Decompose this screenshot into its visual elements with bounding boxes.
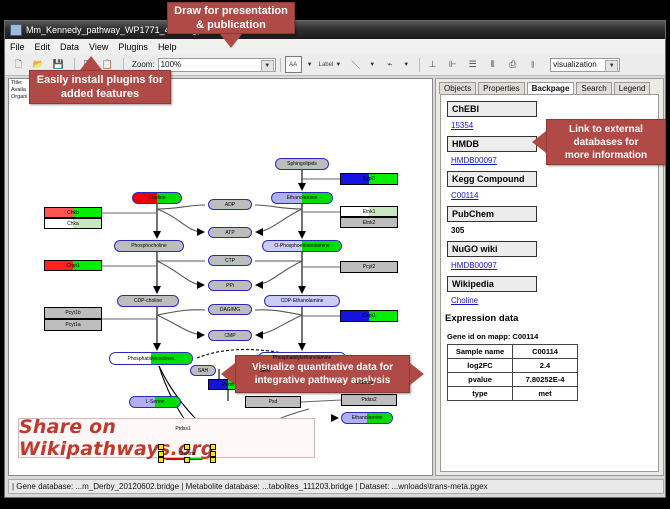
chevron-down-icon[interactable]: ▼ xyxy=(335,62,341,68)
status-bar-text: | Gene database: ...m_Derby_20120602.bri… xyxy=(12,482,488,491)
expr-value-cell: met xyxy=(513,387,578,401)
table-row: typemet xyxy=(448,387,578,401)
node-label: Choline xyxy=(149,195,166,201)
gene-node-chka[interactable]: Chka xyxy=(44,218,102,229)
visualization-combo[interactable]: visualization ▼ xyxy=(550,58,620,72)
selection-handle[interactable] xyxy=(158,457,164,463)
arrow-shape-icon[interactable]: ⌁ xyxy=(381,56,398,73)
menu-item-file[interactable]: File xyxy=(5,42,30,52)
node-label: CDP-choline xyxy=(134,298,162,304)
share-text: Share on Wikipathways.org xyxy=(19,416,314,460)
node-label: L-Serine xyxy=(146,399,165,405)
expr-key-cell: Sample name xyxy=(448,345,513,359)
callout-draw-line1: Draw for presentation xyxy=(174,4,288,18)
db-link-wikipedia[interactable]: Choline xyxy=(451,296,658,305)
menu-item-view[interactable]: View xyxy=(84,42,113,52)
chevron-down-icon[interactable]: ▼ xyxy=(261,60,274,72)
expr-value-cell: 2.4 xyxy=(513,359,578,373)
node-label: SAH xyxy=(198,368,208,374)
meta-organism-label: Organi xyxy=(11,94,28,101)
node-label: Ethanolamine xyxy=(287,195,318,201)
text-icon[interactable]: AA xyxy=(285,56,302,73)
text-tool-dropdown[interactable]: AA ▼ xyxy=(285,56,316,73)
node-label: Ptdss2 xyxy=(361,397,376,403)
node-label: Ptdss1 xyxy=(175,426,190,432)
meta-availability-label: Availa xyxy=(11,87,28,94)
gene-node-pcyt1a[interactable]: Pcyt1a xyxy=(44,319,102,331)
expr-key-cell: log2FC xyxy=(448,359,513,373)
node-label: Pemt xyxy=(222,382,234,388)
label-tool-dropdown[interactable]: Label ▼ xyxy=(319,62,345,68)
tab-backpage[interactable]: Backpage xyxy=(527,82,575,94)
metabolite-node-ctp[interactable]: CTP xyxy=(208,255,252,266)
node-label: Phosphocholine xyxy=(131,243,167,249)
node-label: Ethanolamine xyxy=(352,415,383,421)
db-header-wikipedia: Wikipedia xyxy=(447,276,537,292)
db-header-hmdb: HMDB xyxy=(447,136,537,152)
callout-plugins-line1: Easily install plugins for xyxy=(37,73,164,87)
toolbar-separator-3 xyxy=(280,58,281,72)
expression-data-header: Expression data xyxy=(445,313,658,324)
db-link-nugo-wiki[interactable]: HMDB00097 xyxy=(451,261,658,270)
selection-handle[interactable] xyxy=(210,451,216,457)
metabolite-node-cmp[interactable]: CMP xyxy=(208,330,252,341)
callout-install-plugins: Easily install plugins for added feature… xyxy=(29,70,171,104)
zoom-value: 100% xyxy=(161,60,181,69)
order-icon[interactable]: ⫾ xyxy=(524,56,541,73)
db-header-pubchem: PubChem xyxy=(447,206,537,222)
chevron-down-icon[interactable]: ▼ xyxy=(369,62,375,68)
align-left-icon[interactable]: ⊩ xyxy=(444,56,461,73)
node-label: O-Phosphoethanolamine xyxy=(274,243,329,249)
db-header-chebi: ChEBI xyxy=(447,101,537,117)
gene-node-sgpl1[interactable]: Sgpl1 xyxy=(340,173,398,185)
tab-legend[interactable]: Legend xyxy=(614,82,651,94)
gene-node-pcyt2[interactable]: Pcyt2 xyxy=(340,261,398,273)
app-icon xyxy=(10,24,22,36)
table-row: log2FC2.4 xyxy=(448,359,578,373)
line-tool-dropdown[interactable]: ＼ ▼ xyxy=(347,56,378,73)
zoom-combo[interactable]: 100% ▼ xyxy=(158,58,276,72)
callout-draw-arrow xyxy=(220,34,242,48)
callout-draw-line2: & publication xyxy=(196,18,266,32)
gene-node-pcyt1b[interactable]: Pcyt1b xyxy=(44,307,102,319)
menu-item-plugins[interactable]: Plugins xyxy=(113,42,153,52)
node-label: Choline xyxy=(179,451,196,457)
callout-visualize-line1: Visualize quantitative data for xyxy=(252,361,393,374)
tab-objects[interactable]: Objects xyxy=(439,82,476,94)
metabolite-node-sah[interactable]: SAH xyxy=(190,365,216,376)
callout-draw-for-publication: Draw for presentation & publication xyxy=(167,2,295,34)
node-label: ATP xyxy=(225,230,234,236)
metabolite-node-o-phosphoethanolamine[interactable]: O-Phosphoethanolamine xyxy=(262,240,342,252)
node-label: CMP xyxy=(224,333,235,339)
node-label: CDP-Ethanolamine xyxy=(281,298,324,304)
node-label: SAM xyxy=(260,368,271,374)
tab-properties[interactable]: Properties xyxy=(478,82,524,94)
metabolite-node-dag-mg[interactable]: DAG/MG xyxy=(208,304,252,315)
menu-item-data[interactable]: Data xyxy=(55,42,84,52)
canvas-meta-labels: Title: Availa Organi xyxy=(11,80,28,101)
node-label: Sgpl1 xyxy=(363,176,376,182)
expression-table: Sample nameC00114log2FC2.4pvalue7.80252E… xyxy=(447,344,578,401)
node-label: Sphingolipids xyxy=(287,161,317,167)
gene-node-psd[interactable]: Psd xyxy=(245,396,301,408)
metabolite-node-phosphocholine[interactable]: Phosphocholine xyxy=(114,240,184,252)
callout-share-box: Share on Wikipathways.org xyxy=(18,418,315,458)
menu-item-help[interactable]: Help xyxy=(153,42,182,52)
label-dropdown-text: Label xyxy=(319,62,334,68)
expr-key-cell: type xyxy=(448,387,513,401)
chevron-down-icon[interactable]: ▼ xyxy=(307,62,313,68)
db-header-nugo-wiki: NuGO wiki xyxy=(447,241,537,257)
status-bar: | Gene database: ...m_Derby_20120602.bri… xyxy=(8,479,664,494)
metabolite-node-cdp-ethanolamine[interactable]: CDP-Ethanolamine xyxy=(264,295,340,307)
gene-node-cept1[interactable]: Cept1 xyxy=(340,310,398,322)
node-label: Chpt1 xyxy=(66,263,79,269)
callout-plugins-line2: added features xyxy=(61,87,139,101)
node-label: CTP xyxy=(225,258,235,264)
metabolite-node-adp[interactable]: ADP xyxy=(208,199,252,210)
node-label: Phosphatidylethanolamine xyxy=(273,355,332,361)
db-header-kegg-compound: Kegg Compound xyxy=(447,171,537,187)
visualization-value: visualization xyxy=(553,60,597,69)
metabolite-node-cdp-choline[interactable]: CDP-choline xyxy=(117,295,179,307)
node-label: Etnk2 xyxy=(363,220,376,226)
metabolite-node-atp[interactable]: ATP xyxy=(208,227,252,238)
metabolite-node-ethanolamine[interactable]: Ethanolamine xyxy=(271,192,333,204)
gene-node-etnk1[interactable]: Etnk1 xyxy=(340,206,398,217)
db-link-kegg-compound[interactable]: C00114 xyxy=(451,191,658,200)
metabolite-node-ppi[interactable]: PPi xyxy=(208,280,252,291)
distribute-vert-icon[interactable]: ☰ xyxy=(464,56,481,73)
metabolite-node-phosphatidylcholines[interactable]: Phosphatidylcholines xyxy=(109,352,193,365)
node-label: PPi xyxy=(226,283,234,289)
callout-link-arrow xyxy=(532,131,546,153)
callout-external-databases: Link to external databases for more info… xyxy=(546,119,666,165)
selection-handle[interactable] xyxy=(158,444,164,450)
metabolite-node-l-serine[interactable]: L-Serine xyxy=(129,396,181,408)
panel-tab-strip: ObjectsPropertiesBackpageSearchLegend xyxy=(439,81,652,94)
db-value-pubchem: 305 xyxy=(451,226,658,235)
menu-item-edit[interactable]: Edit xyxy=(30,42,56,52)
node-label: Chka xyxy=(67,221,79,227)
gene-node-chkb[interactable]: Chkb xyxy=(44,207,102,218)
gene-node-chpt1[interactable]: Chpt1 xyxy=(44,260,102,271)
expr-value-cell: C00114 xyxy=(513,345,578,359)
zoom-label: Zoom: xyxy=(132,60,155,69)
menu-bar: File Edit Data View Plugins Help xyxy=(5,39,665,55)
table-row: Sample nameC00114 xyxy=(448,345,578,359)
callout-visualize-arrow-right xyxy=(410,363,424,385)
node-label: ADP xyxy=(225,202,235,208)
metabolite-node-choline[interactable]: Choline xyxy=(132,192,182,204)
align-bottom-icon[interactable]: ⊥ xyxy=(424,56,441,73)
gene-id-line: Gene id on mapp: C00114 xyxy=(447,332,658,341)
node-label: Cept1 xyxy=(362,313,375,319)
callout-link-line2: databases for xyxy=(573,136,638,149)
node-label: DAG/MG xyxy=(220,307,240,313)
node-label: Pcyt1a xyxy=(65,322,80,328)
callout-link-line3: more information xyxy=(565,149,647,162)
toolbar-separator-4 xyxy=(419,58,420,72)
tab-search[interactable]: Search xyxy=(576,82,611,94)
selection-handle[interactable] xyxy=(184,457,190,463)
gene-node-ptdss2[interactable]: Ptdss2 xyxy=(341,394,397,406)
callout-plugins-arrow xyxy=(80,56,102,70)
table-row: pvalue7.80252E-4 xyxy=(448,373,578,387)
node-label: Pcyt2 xyxy=(363,264,376,270)
chevron-down-icon[interactable]: ▼ xyxy=(403,62,409,68)
selection-handle[interactable] xyxy=(210,457,216,463)
node-label: Pcyt1b xyxy=(65,310,80,316)
metabolite-node-ethanolamine[interactable]: Ethanolamine xyxy=(341,412,393,424)
chevron-down-icon[interactable]: ▼ xyxy=(605,60,618,72)
distribute-horz-icon[interactable]: ⦀ xyxy=(484,56,501,73)
node-label: Chkb xyxy=(67,210,79,216)
node-label: Psd xyxy=(269,399,278,405)
shape-tool-dropdown[interactable]: ⌁ ▼ xyxy=(381,56,412,73)
group-icon[interactable]: ⎙ xyxy=(504,56,521,73)
meta-title-label: Title: xyxy=(11,80,28,87)
callout-link-line1: Link to external xyxy=(569,123,643,136)
expr-value-cell: 7.80252E-4 xyxy=(513,373,578,387)
window-titlebar: Mm_Kennedy_pathway_WP1771_45176.gpml xyxy=(5,21,665,39)
node-label: Phosphatidylcholines xyxy=(128,356,175,362)
selection-handle[interactable] xyxy=(184,444,190,450)
gene-node-etnk2[interactable]: Etnk2 xyxy=(340,217,398,228)
selection-handle[interactable] xyxy=(158,451,164,457)
node-label: Etnk1 xyxy=(363,209,376,215)
new-file-icon[interactable]: 🗋 xyxy=(10,56,27,73)
node-label: L-Serine xyxy=(356,380,375,386)
line-icon[interactable]: ＼ xyxy=(347,56,364,73)
selection-handle[interactable] xyxy=(210,444,216,450)
expr-key-cell: pvalue xyxy=(448,373,513,387)
metabolite-node-sphingolipids[interactable]: Sphingolipids xyxy=(275,158,329,170)
screenshot-root: Mm_Kennedy_pathway_WP1771_45176.gpml Fil… xyxy=(0,0,670,509)
